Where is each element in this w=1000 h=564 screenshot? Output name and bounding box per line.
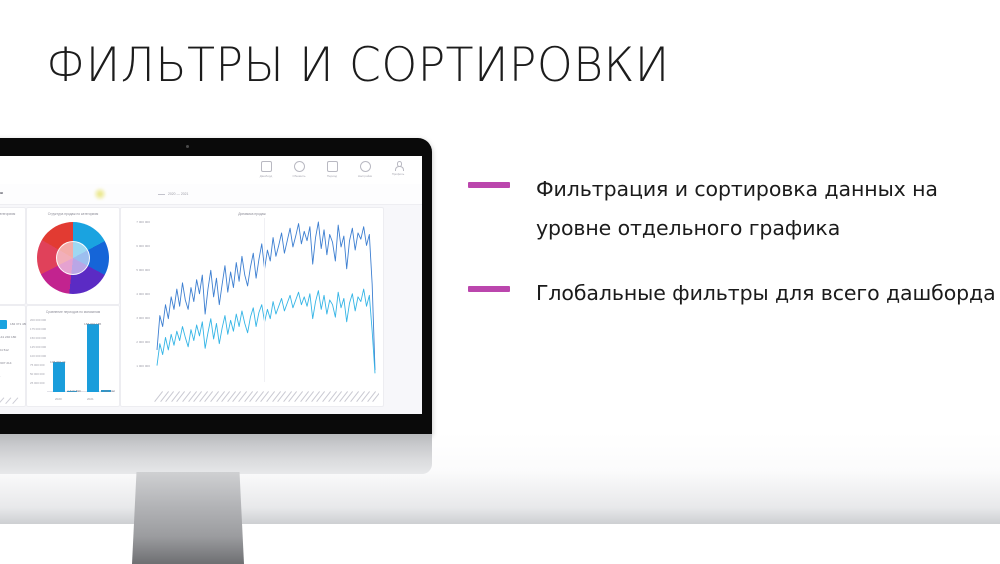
monitor-screen: Поиск Дашборд Обновить Период: [0, 156, 422, 414]
bar-value-label: 2 619 890: [67, 389, 81, 393]
app-topbar: Поиск Дашборд Обновить Период: [0, 156, 422, 185]
toolbar-label: Обновить: [289, 174, 309, 178]
bar-value-label: 111 404 512: [0, 348, 9, 352]
y-tick-label: 3 000 000: [124, 316, 150, 320]
bar-item: [0, 320, 7, 329]
toolbar-item-settings[interactable]: Настройки: [355, 161, 375, 178]
y-tick-label: 5 000 000: [124, 268, 150, 272]
toolbar-icon-group: Дашборд Обновить Период Настройки: [256, 161, 408, 178]
y-tick-label: 150 000 000: [30, 336, 46, 340]
app-subbar: Аналитика продаж 2020 — 2021 Редактирова…: [0, 184, 422, 205]
toolbar-label: Период: [322, 174, 342, 178]
y-axis: 7 000 000 6 000 000 5 000 000 4 000 000 …: [124, 220, 152, 382]
y-tick-label: 200 000 000: [30, 318, 46, 322]
y-tick-label: 6 000 000: [124, 244, 150, 248]
monitor-stand: [132, 472, 244, 564]
panel-horizontal-bars[interactable]: 182 371 486 141 240 180 111 404 512 93 6…: [0, 305, 26, 407]
x-axis-ticks: [0, 392, 21, 404]
bar-value-label: 93 607 214: [0, 361, 11, 365]
bullet-text: Фильтрация и сортировка данных на уровне…: [536, 170, 1000, 248]
toolbar-item-refresh[interactable]: Обновить: [289, 161, 309, 178]
calendar-icon: [327, 161, 338, 172]
plot-divider: [264, 218, 265, 382]
bullet-text: Глобальные фильтры для всего дашборда: [536, 274, 1000, 313]
x-category-label: 2020: [55, 397, 62, 401]
y-tick-label: 7 000 000: [124, 220, 150, 224]
y-tick-label: 100 000 000: [30, 354, 46, 358]
bar-value-label: 182 371 486: [10, 322, 27, 326]
date-filter[interactable]: 2020 — 2021: [158, 192, 188, 196]
y-tick-label: 175 000 000: [30, 327, 46, 331]
monitor-mockup: Поиск Дашборд Обновить Период: [0, 138, 432, 438]
panel-title: Динамика продаж: [121, 212, 383, 216]
donut-hole: [56, 241, 90, 275]
toolbar-label: Настройки: [355, 174, 375, 178]
monitor-chin: [0, 434, 432, 474]
y-tick-label: 2 000 000: [124, 340, 150, 344]
toolbar-item-period[interactable]: Период: [322, 161, 342, 178]
user-icon: [394, 161, 403, 170]
dashboard-body: Показатели по категориям Структура прода…: [0, 205, 422, 414]
y-tick-label: 75 000 000: [30, 363, 44, 367]
monitor-bezel: Поиск Дашборд Обновить Период: [0, 138, 432, 434]
dashboard-icon: [261, 161, 272, 172]
bullet-dash-icon: [468, 182, 510, 188]
bullet-item: Фильтрация и сортировка данных на уровне…: [468, 170, 1000, 248]
toolbar-item-dashboard[interactable]: Дашборд: [256, 161, 276, 178]
dashboard-title: Аналитика продаж: [0, 190, 3, 195]
bullet-dash-icon: [468, 286, 510, 292]
bar-item: [53, 362, 65, 392]
bullet-item: Глобальные фильтры для всего дашборда: [468, 274, 1000, 313]
bar-item: [87, 324, 99, 392]
bar-value-label: 141 240 180: [0, 335, 16, 339]
refresh-icon: [294, 161, 305, 172]
donut-chart: [37, 222, 109, 294]
highlight-dot-icon: [94, 188, 106, 200]
x-category-label: 2021: [87, 397, 94, 401]
y-tick-label: 1 000 000: [124, 364, 150, 368]
toolbar-item-profile[interactable]: Профиль: [388, 161, 408, 178]
panel-vertical-bars[interactable]: Сравнение периодов по магазинам 200 000 …: [26, 305, 120, 407]
toolbar-label: Дашборд: [256, 174, 276, 178]
bullet-list: Фильтрация и сортировка данных на уровне…: [468, 170, 1000, 339]
page-title: ФИЛЬТРЫ И СОРТИРОВКИ: [46, 37, 670, 95]
panel-metrics-list[interactable]: Показатели по категориям: [0, 207, 26, 305]
date-filter-value: 2020 — 2021: [168, 192, 188, 196]
y-tick-label: 125 000 000: [30, 345, 46, 349]
line-chart-svg: [153, 218, 379, 382]
line-plot-area: [153, 218, 379, 382]
panel-title: Сравнение периодов по магазинам: [27, 310, 119, 314]
camera-dot-icon: [186, 145, 189, 148]
toolbar-label: Профиль: [388, 172, 408, 176]
bar-value-label: 108 201 44: [50, 360, 65, 364]
panel-line-chart[interactable]: Динамика продаж 7 000 000 6 000 000 5 00…: [120, 207, 384, 407]
panel-donut-chart[interactable]: Структура продаж по категориям: [26, 207, 120, 305]
panel-title: Показатели по категориям: [0, 212, 25, 216]
settings-icon: [360, 161, 371, 172]
y-tick-label: 25 000 000: [30, 381, 44, 385]
date-dash-icon: [158, 194, 165, 195]
bar-value-label: 183 301 185: [84, 322, 101, 326]
bar-value-label: 3 180 012: [101, 389, 115, 393]
y-tick-label: 4 000 000: [124, 292, 150, 296]
y-tick-label: 50 000 000: [30, 372, 44, 376]
x-axis-ticks: [153, 382, 379, 404]
panel-title: Структура продаж по категориям: [27, 212, 119, 216]
